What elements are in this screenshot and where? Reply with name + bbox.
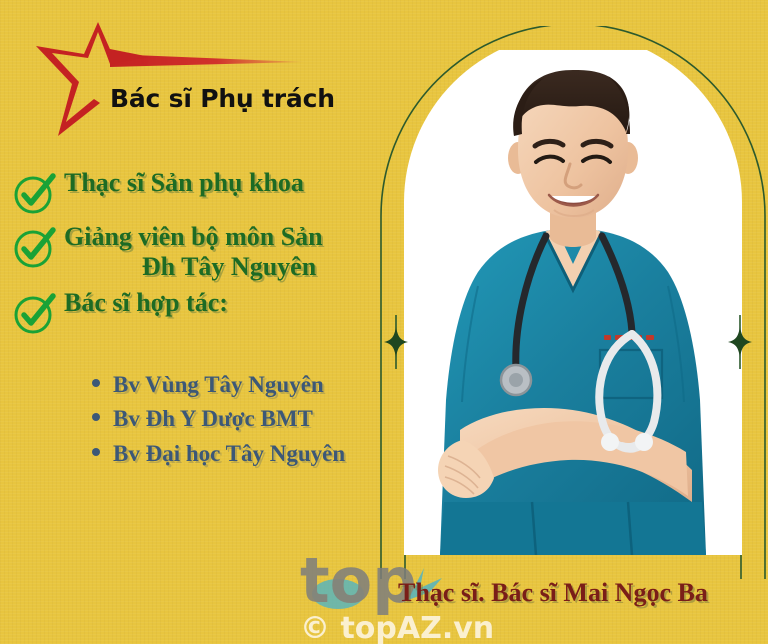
diamond-ornament-right [727,315,753,369]
credential-line: Bác sĩ hợp tác: [64,288,400,318]
bullet-dot-icon [92,448,100,456]
hospital-label: Bv Vùng Tây Nguyên [113,372,324,397]
doctor-name: Thạc sĩ. Bác sĩ Mai Ngọc Ba [398,578,708,608]
credential-item: Thạc sĩ Sản phụ khoa [0,168,400,216]
credential-line: Thạc sĩ Sản phụ khoa [64,168,400,198]
hospital-label: Bv Đại học Tây Nguyên [113,441,345,466]
poster-canvas: Bác sĩ Phụ trách Thạc sĩ Sản phụ khoa Gi… [0,0,768,644]
credential-item: Giảng viên bộ môn Sản Đh Tây Nguyên [0,222,400,282]
hospital-label: Bv Đh Y Dược BMT [113,406,313,431]
bullet-dot-icon [92,413,100,421]
bullet-dot-icon [92,379,100,387]
credentials-list: Thạc sĩ Sản phụ khoa Giảng viên bộ môn S… [0,168,400,342]
credential-item: Bác sĩ hợp tác: [0,288,400,336]
star-swoosh-icon [14,18,324,138]
check-circle-icon [12,224,58,270]
check-circle-icon [12,290,58,336]
doctor-portrait [404,50,742,555]
list-item: Bv Vùng Tây Nguyên [92,372,345,397]
check-circle-icon [12,170,58,216]
hospital-list: Bv Vùng Tây Nguyên Bv Đh Y Dược BMT Bv Đ… [92,372,345,475]
list-item: Bv Đại học Tây Nguyên [92,441,345,466]
list-item: Bv Đh Y Dược BMT [92,406,345,431]
svg-text:© topAZ.vn: © topAZ.vn [300,611,494,644]
credential-line: Đh Tây Nguyên [64,252,400,282]
page-title: Bác sĩ Phụ trách [110,84,335,113]
credential-line: Giảng viên bộ môn Sản [64,222,400,252]
